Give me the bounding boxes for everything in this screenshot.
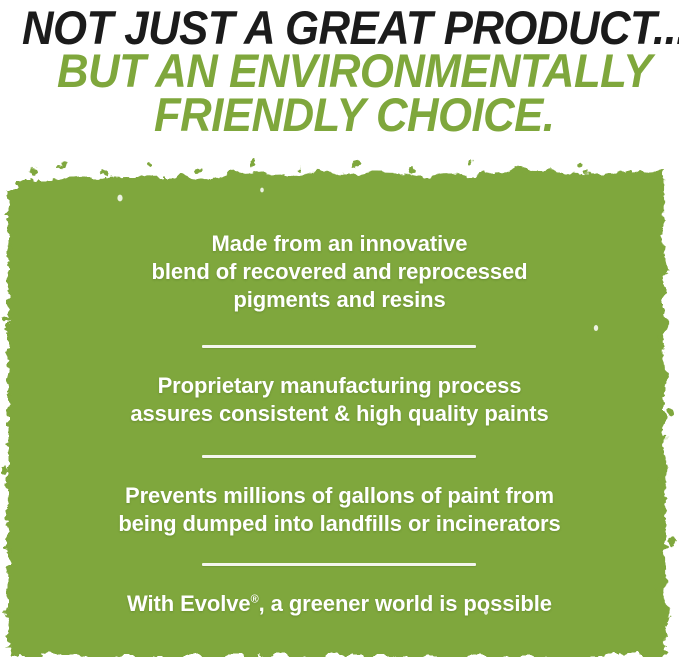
headline-line-2: BUT AN ENVIRONMENTALLY: [57, 47, 652, 94]
headline: NOT JUST A GREAT PRODUCT... BUT AN ENVIR…: [0, 0, 679, 150]
benefit-1-line-1: Made from an innovative: [24, 230, 655, 258]
benefit-greener-world: With Evolve®, a greener world is possibl…: [0, 590, 679, 618]
benefit-2-line-2: assures consistent & high quality paints: [24, 400, 655, 428]
promo-graphic: NOT JUST A GREAT PRODUCT... BUT AN ENVIR…: [0, 0, 679, 657]
benefit-divider-2: [202, 455, 476, 458]
benefit-1-line-3: pigments and resins: [24, 286, 655, 314]
benefit-3-line-2: being dumped into landfills or incinerat…: [24, 510, 655, 538]
brand-name: With Evolve: [127, 591, 251, 616]
benefit-4-tail: , a greener world is possible: [259, 591, 552, 616]
benefits-list: Made from an innovative blend of recover…: [0, 150, 679, 657]
benefit-prevents-waste: Prevents millions of gallons of paint fr…: [0, 482, 679, 538]
benefit-1-line-2: blend of recovered and reprocessed: [24, 258, 655, 286]
benefit-2-line-1: Proprietary manufacturing process: [24, 372, 655, 400]
registered-trademark-icon: ®: [251, 594, 259, 606]
benefit-3-line-1: Prevents millions of gallons of paint fr…: [24, 482, 655, 510]
benefit-innovative-blend: Made from an innovative blend of recover…: [0, 230, 679, 314]
benefit-4-line-1: With Evolve®, a greener world is possibl…: [24, 590, 655, 618]
benefit-manufacturing-process: Proprietary manufacturing process assure…: [0, 372, 679, 428]
benefit-divider-1: [202, 345, 476, 348]
headline-line-3: FRIENDLY CHOICE.: [154, 91, 554, 138]
benefit-divider-3: [202, 563, 476, 566]
